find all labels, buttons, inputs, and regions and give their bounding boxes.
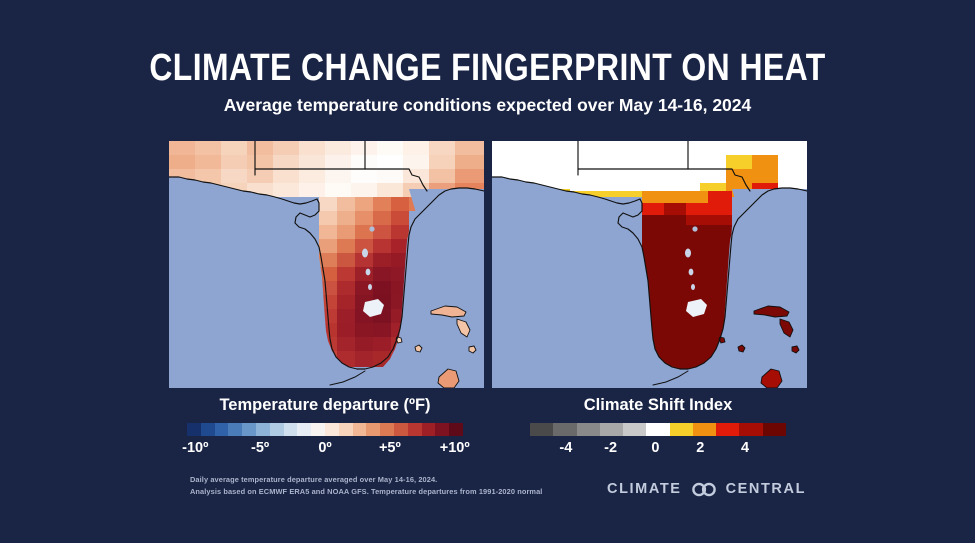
csi-tick-0: -4 — [559, 440, 572, 456]
temperature-swatch-6 — [270, 423, 284, 436]
csi-swatch-0 — [530, 423, 553, 436]
temperature-swatch-4 — [242, 423, 256, 436]
interlocking-circles-icon — [689, 482, 719, 497]
page-subtitle: Average temperature conditions expected … — [0, 95, 975, 116]
csi-swatch-8 — [716, 423, 739, 436]
climate-central-logo: CLIMATE CENTRAL — [607, 481, 806, 497]
temperature-swatch-16 — [408, 423, 422, 436]
csi-tick-1: -2 — [604, 440, 617, 456]
footnote-line-2: Analysis based on ECMWF ERA5 and NOAA GF… — [190, 486, 542, 498]
csi-swatch-6 — [670, 423, 693, 436]
temperature-swatch-10 — [325, 423, 339, 436]
csi-swatch-10 — [763, 423, 786, 436]
infographic-root: CLIMATE CHANGE FINGERPRINT ON HEAT Avera… — [0, 0, 975, 543]
temperature-swatch-15 — [394, 423, 408, 436]
legend-title-temperature: Temperature departure (ºF) — [160, 396, 490, 415]
temperature-swatch-12 — [353, 423, 367, 436]
csi-swatch-9 — [739, 423, 762, 436]
csi-tick-3: 2 — [696, 440, 704, 456]
climate-shift-index-legend: Climate Shift Index -4-2024 — [493, 396, 823, 460]
temperature-colorbar-ticks: -10º-5º0º+5º+10º — [187, 440, 463, 460]
temperature-swatch-17 — [422, 423, 436, 436]
page-title: CLIMATE CHANGE FINGERPRINT ON HEAT — [78, 49, 897, 89]
temperature-swatch-3 — [228, 423, 242, 436]
logo-text-central: CENTRAL — [726, 481, 806, 497]
temperature-swatch-13 — [366, 423, 380, 436]
temperature-tick-1: -5º — [251, 440, 269, 456]
csi-swatch-5 — [646, 423, 669, 436]
temperature-tick-2: 0º — [318, 440, 331, 456]
temperature-tick-0: -10º — [182, 440, 208, 456]
temperature-swatch-2 — [215, 423, 229, 436]
temperature-swatch-1 — [201, 423, 215, 436]
temperature-swatch-8 — [297, 423, 311, 436]
temperature-departure-map — [169, 141, 484, 388]
temperature-swatch-14 — [380, 423, 394, 436]
csi-swatch-7 — [693, 423, 716, 436]
temperature-swatch-5 — [256, 423, 270, 436]
footnotes: Daily average temperature departure aver… — [190, 474, 542, 498]
csi-swatch-4 — [623, 423, 646, 436]
temperature-tick-3: +5º — [379, 440, 401, 456]
csi-colorbar-ticks: -4-2024 — [530, 440, 786, 460]
legend-title-csi: Climate Shift Index — [493, 396, 823, 415]
temperature-swatch-7 — [284, 423, 298, 436]
temperature-swatch-9 — [311, 423, 325, 436]
climate-shift-index-map — [492, 141, 807, 388]
temperature-swatch-19 — [449, 423, 463, 436]
csi-tick-4: 4 — [741, 440, 749, 456]
footnote-line-1: Daily average temperature departure aver… — [190, 474, 542, 486]
temperature-swatch-11 — [339, 423, 353, 436]
temperature-departure-legend: Temperature departure (ºF) -10º-5º0º+5º+… — [160, 396, 490, 460]
csi-swatch-3 — [600, 423, 623, 436]
temperature-swatch-18 — [435, 423, 449, 436]
csi-colorbar — [530, 423, 786, 436]
csi-swatch-2 — [577, 423, 600, 436]
temperature-colorbar — [187, 423, 463, 436]
temperature-tick-4: +10º — [440, 440, 470, 456]
logo-text-climate: CLIMATE — [607, 481, 682, 497]
csi-swatch-1 — [553, 423, 576, 436]
temperature-swatch-0 — [187, 423, 201, 436]
csi-tick-2: 0 — [651, 440, 659, 456]
